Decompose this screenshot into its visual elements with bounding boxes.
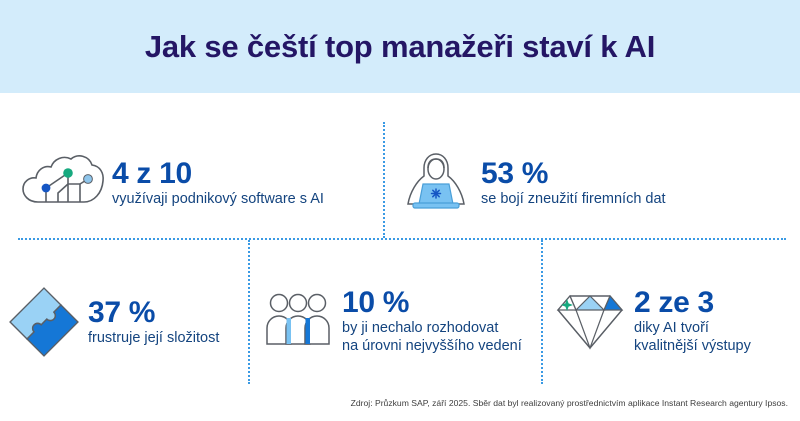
stat-label-cloud: využívaji podnikový software s AI: [112, 190, 324, 208]
hooded-person-laptop-icon: [405, 148, 467, 218]
stat-label-people-line1: by ji nechalo rozhodovat: [342, 319, 522, 337]
stat-text-cloud: 4 z 10 využívaji podnikový software s AI: [112, 158, 324, 209]
divider-horizontal: [18, 238, 786, 240]
stat-label-diamond-line2: kvalitnější výstupy: [634, 337, 751, 355]
stat-text-diamond: 2 ze 3 diky AI tvoří kvalitnější výstupy: [634, 287, 751, 356]
puzzle-pieces-icon: [6, 284, 82, 360]
cloud-network-icon: [18, 148, 106, 218]
diamond-gem-icon: [554, 288, 626, 354]
stat-value-security: 53 %: [481, 158, 666, 190]
stat-text-puzzle: 37 % frustruje její složitost: [88, 297, 219, 348]
stat-block-diamond: 2 ze 3 diky AI tvoří kvalitnější výstupy: [554, 276, 794, 366]
stat-block-puzzle: 37 % frustruje její složitost: [6, 280, 246, 364]
infographic-root: Jak se čeští top manažeři staví k AI 4 z…: [0, 0, 800, 421]
stat-value-people: 10 %: [342, 287, 522, 319]
divider-vertical-bottom-right: [541, 240, 543, 384]
stat-label-diamond-line1: diky AI tvoří: [634, 319, 751, 337]
divider-vertical-bottom-left: [248, 240, 250, 384]
stat-label-people-line2: na úrovni nejvyššího vedení: [342, 337, 522, 355]
three-people-icon: [262, 286, 334, 356]
divider-vertical-top: [383, 122, 385, 238]
stat-text-security: 53 % se bojí zneužití firemních dat: [481, 158, 666, 209]
stat-value-puzzle: 37 %: [88, 297, 219, 329]
stat-label-puzzle: frustruje její složitost: [88, 329, 219, 347]
stat-value-cloud: 4 z 10: [112, 158, 324, 190]
stat-block-security: 53 % se bojí zneužití firemních dat: [405, 140, 775, 226]
stat-value-diamond: 2 ze 3: [634, 287, 751, 319]
source-note: Zdroj: Průzkum SAP, září 2025. Sběr dat …: [351, 398, 788, 408]
stat-label-security: se bojí zneužití firemních dat: [481, 190, 666, 208]
stat-block-cloud: 4 z 10 využívaji podnikový software s AI: [18, 140, 368, 226]
stat-block-people: 10 % by ji nechalo rozhodovat na úrovni …: [262, 276, 537, 366]
page-title: Jak se čeští top manažeři staví k AI: [0, 0, 800, 93]
stat-text-people: 10 % by ji nechalo rozhodovat na úrovni …: [342, 287, 522, 356]
